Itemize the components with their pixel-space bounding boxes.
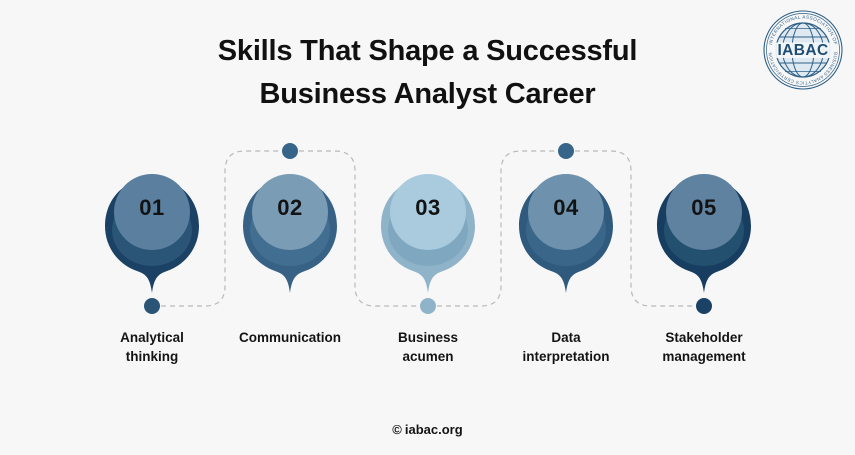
step-node-2[interactable]: 02 Communication xyxy=(235,168,345,293)
step-number-1: 01 xyxy=(97,195,207,221)
step-pin-2: 02 xyxy=(235,168,345,293)
footer-credit: ©iabac.org xyxy=(0,422,855,437)
step-label-3: Business acumen xyxy=(353,328,503,366)
step-pin-1: 01 xyxy=(97,168,207,293)
step-pin-shape-3 xyxy=(373,168,483,293)
step-node-5[interactable]: 05 Stakeholder management xyxy=(649,168,759,293)
step-label-2-line1: Communication xyxy=(215,328,365,347)
infographic-canvas: IABAC INTERNATIONAL ASSOCIATION OF BUSIN… xyxy=(0,0,855,455)
step-node-1[interactable]: 01 Analytical thinking xyxy=(97,168,207,293)
step-label-5-line1: Stakeholder xyxy=(629,328,779,347)
footer-site-text: iabac.org xyxy=(405,422,463,437)
step-pin-5: 05 xyxy=(649,168,759,293)
step-node-group: 01 Analytical thinking 02 Communication xyxy=(0,0,855,455)
step-label-1-line2: thinking xyxy=(77,347,227,366)
step-number-4: 04 xyxy=(511,195,621,221)
step-number-5: 05 xyxy=(649,195,759,221)
copyright-icon: © xyxy=(392,422,402,437)
step-number-3: 03 xyxy=(373,195,483,221)
step-label-1-line1: Analytical xyxy=(77,328,227,347)
step-label-4: Data interpretation xyxy=(491,328,641,366)
step-label-4-line2: interpretation xyxy=(491,347,641,366)
step-label-3-line2: acumen xyxy=(353,347,503,366)
step-pin-4: 04 xyxy=(511,168,621,293)
step-pin-shape-1 xyxy=(97,168,207,293)
step-label-3-line1: Business xyxy=(353,328,503,347)
step-pin-shape-5 xyxy=(649,168,759,293)
step-node-3[interactable]: 03 Business acumen xyxy=(373,168,483,293)
step-pin-shape-2 xyxy=(235,168,345,293)
step-number-2: 02 xyxy=(235,195,345,221)
step-label-2: Communication xyxy=(215,328,365,347)
step-label-5-line2: management xyxy=(629,347,779,366)
step-node-4[interactable]: 04 Data interpretation xyxy=(511,168,621,293)
step-label-5: Stakeholder management xyxy=(629,328,779,366)
step-label-4-line1: Data xyxy=(491,328,641,347)
step-pin-3: 03 xyxy=(373,168,483,293)
step-label-1: Analytical thinking xyxy=(77,328,227,366)
step-pin-shape-4 xyxy=(511,168,621,293)
